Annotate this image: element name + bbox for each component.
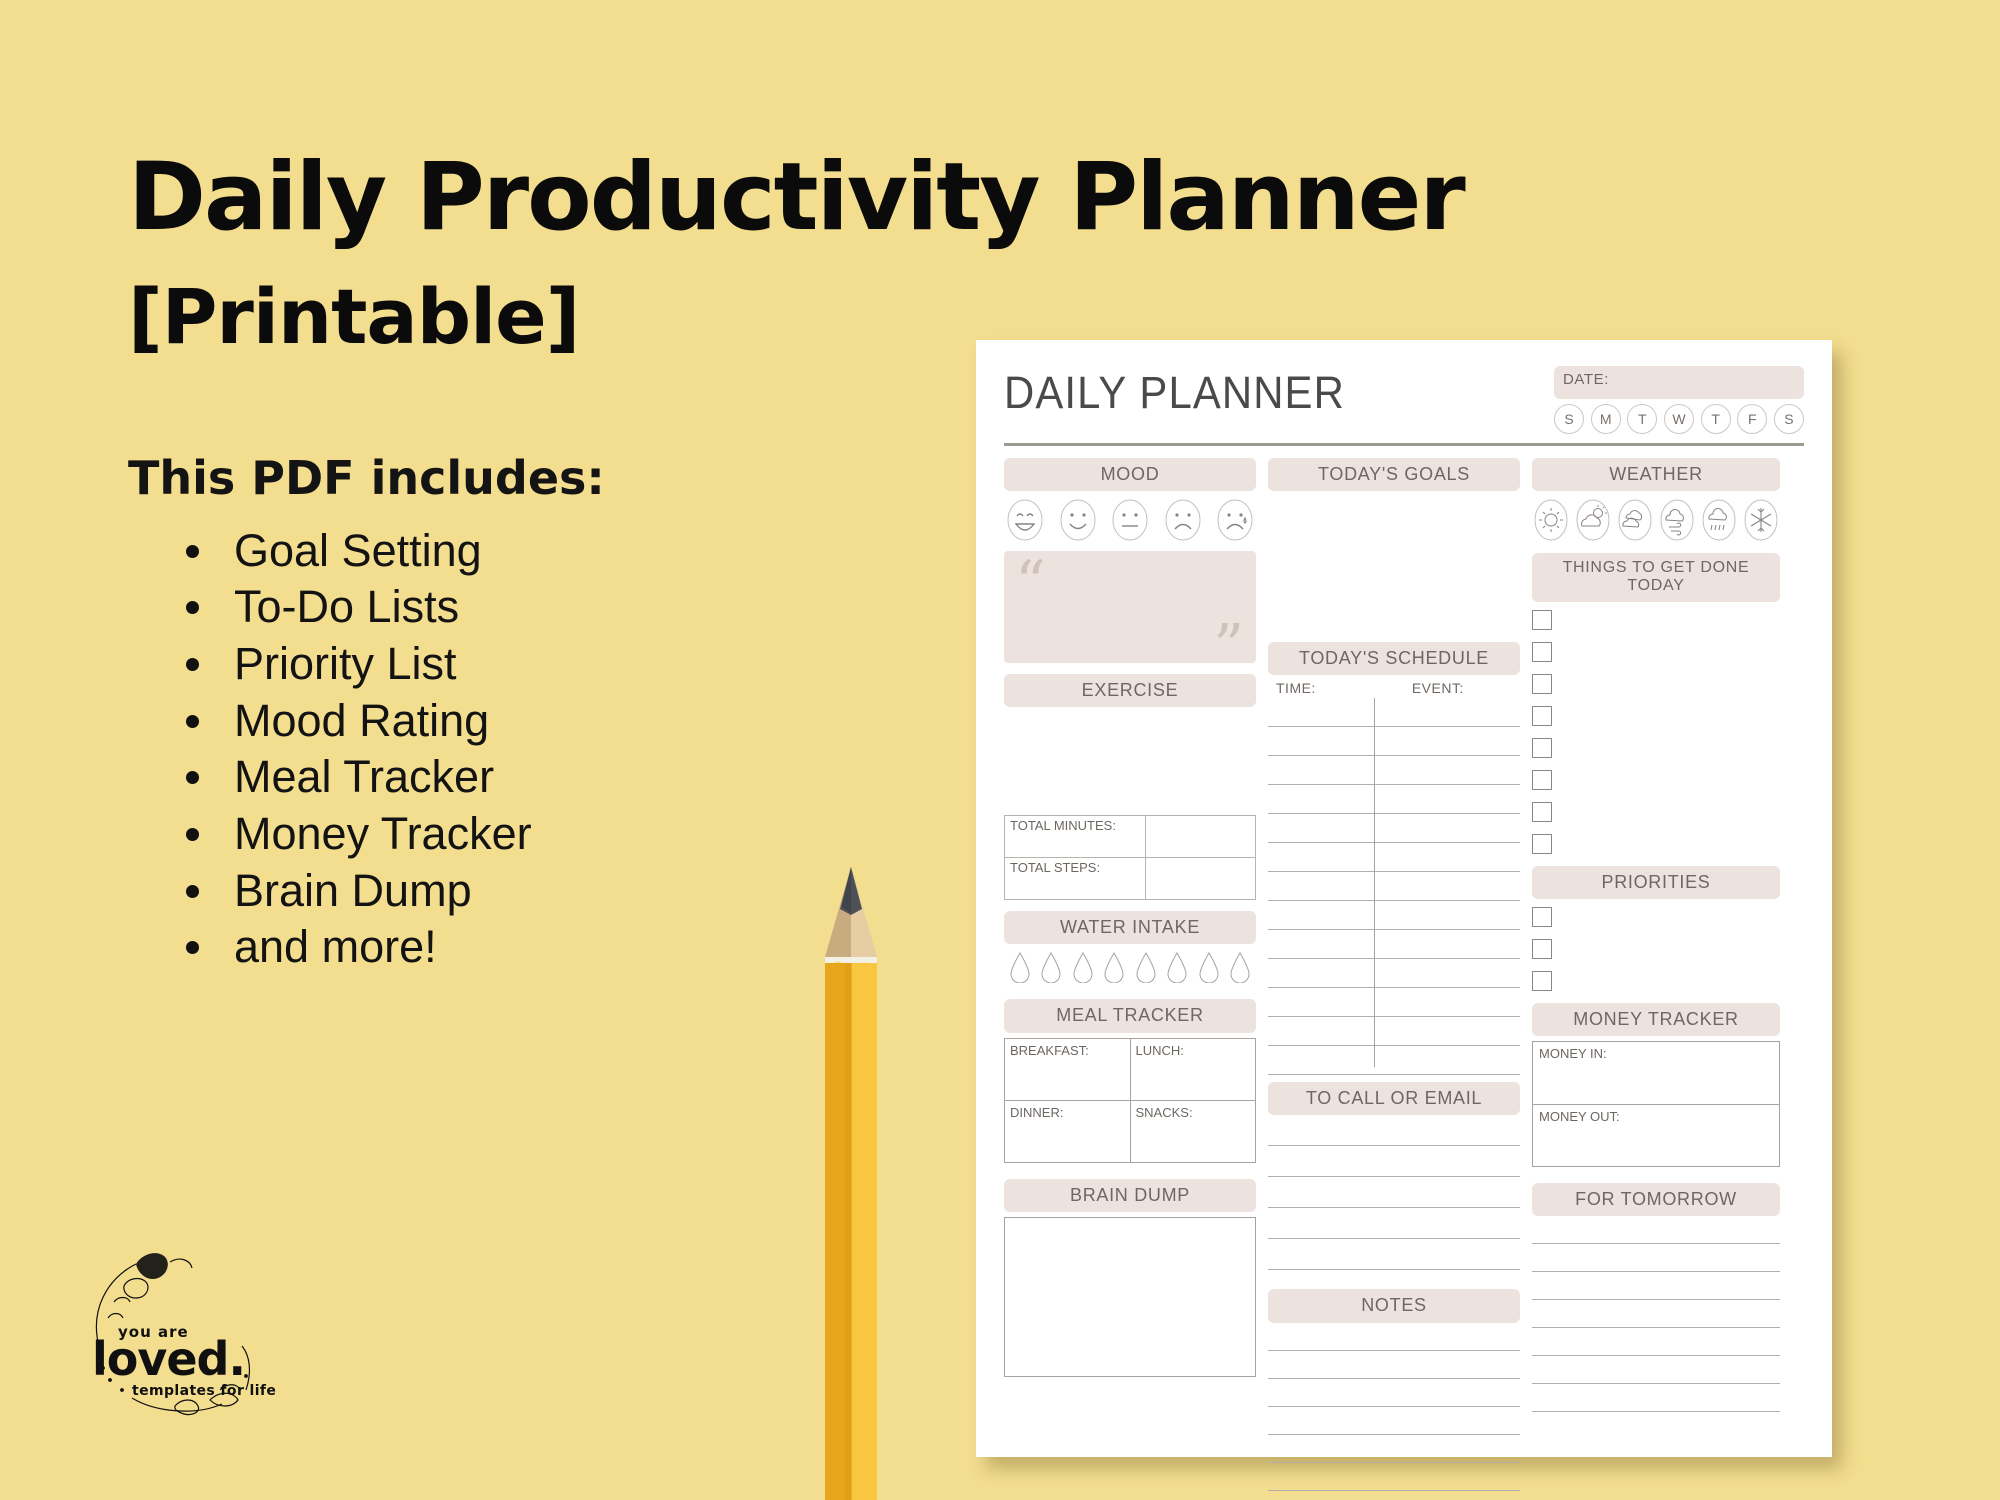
- bullet-icon: [186, 715, 199, 728]
- feature-label: Brain Dump: [234, 865, 472, 916]
- logo-tagline-bottom: templates for life: [132, 1383, 276, 1399]
- meal-tracker-heading: MEAL TRACKER: [1004, 999, 1256, 1032]
- schedule-column-labels: TIME: EVENT:: [1268, 675, 1520, 698]
- feature-item: Priority List: [186, 636, 928, 693]
- todays-schedule-heading: TODAY'S SCHEDULE: [1268, 642, 1520, 675]
- water-drop-icon[interactable]: [1071, 951, 1095, 983]
- feature-label: Meal Tracker: [234, 751, 494, 802]
- priority-checkbox[interactable]: [1532, 907, 1552, 927]
- water-drop-icon[interactable]: [1165, 951, 1189, 983]
- day-of-week-selector[interactable]: SMTWTFS: [1554, 404, 1804, 434]
- schedule-row[interactable]: [1268, 930, 1520, 959]
- column-left: MOOD: [1004, 458, 1256, 1500]
- mood-icon-row[interactable]: [1006, 498, 1254, 542]
- weather-heading: WEATHER: [1532, 458, 1780, 491]
- feature-label: To-Do Lists: [234, 581, 459, 632]
- priorities-heading: PRIORITIES: [1532, 866, 1780, 899]
- for-tomorrow-lines[interactable]: [1532, 1216, 1780, 1412]
- dinner-cell[interactable]: DINNER:: [1005, 1100, 1131, 1162]
- column-right: WEATHER: [1532, 458, 1780, 1500]
- spacer: [1532, 1167, 1780, 1183]
- to-call-or-email-lines[interactable]: [1268, 1115, 1520, 1270]
- brain-dump-box[interactable]: [1004, 1217, 1256, 1377]
- spacer: [1004, 1163, 1256, 1179]
- breakfast-cell[interactable]: BREAKFAST:: [1005, 1038, 1131, 1100]
- schedule-row[interactable]: [1268, 814, 1520, 843]
- header-divider: [1004, 443, 1804, 446]
- day-circle-6[interactable]: S: [1774, 404, 1804, 434]
- brand-logo: you are loved. templates for life: [70, 1240, 290, 1420]
- table-row: BREAKFAST: LUNCH:: [1005, 1038, 1256, 1100]
- mood-heading: MOOD: [1004, 458, 1256, 491]
- feature-list: Goal SettingTo-Do ListsPriority ListMood…: [128, 523, 928, 977]
- spacer: [1004, 900, 1256, 911]
- to-call-line[interactable]: [1268, 1115, 1520, 1146]
- spacer: [1268, 1270, 1520, 1289]
- notes-line[interactable]: [1268, 1407, 1520, 1435]
- schedule-row[interactable]: [1268, 959, 1520, 988]
- schedule-row[interactable]: [1268, 843, 1520, 872]
- bullet-icon: [186, 941, 199, 954]
- planner-sheet: DAILY PLANNER DATE: SMTWTFS MOOD: [976, 340, 1832, 1457]
- lunch-cell[interactable]: LUNCH:: [1130, 1038, 1256, 1100]
- water-drop-icon[interactable]: [1197, 951, 1221, 983]
- bullet-icon: [186, 545, 199, 558]
- exercise-totals-table: TOTAL MINUTES: TOTAL STEPS:: [1004, 815, 1256, 900]
- notes-lines[interactable]: [1268, 1323, 1520, 1500]
- feature-label: and more!: [234, 921, 437, 972]
- todo-checkbox[interactable]: [1532, 610, 1552, 630]
- money-in-field[interactable]: MONEY IN:: [1533, 1042, 1779, 1104]
- page-title: Daily Productivity Planner: [128, 150, 928, 247]
- bullet-icon: [186, 601, 199, 614]
- bullet-icon: [186, 771, 199, 784]
- neutral-face-icon[interactable]: [1111, 498, 1149, 542]
- table-row: TOTAL STEPS:: [1005, 858, 1256, 900]
- priority-checkbox[interactable]: [1532, 939, 1552, 959]
- total-minutes-value[interactable]: [1145, 816, 1255, 858]
- column-middle: TODAY'S GOALS TODAY'S SCHEDULE TIME: EVE…: [1268, 458, 1520, 1500]
- for-tomorrow-line[interactable]: [1532, 1244, 1780, 1272]
- schedule-row[interactable]: [1268, 785, 1520, 814]
- feature-item: Mood Rating: [186, 693, 928, 750]
- bullet-icon: [186, 885, 199, 898]
- snacks-cell[interactable]: SNACKS:: [1130, 1100, 1256, 1162]
- schedule-row[interactable]: [1268, 727, 1520, 756]
- day-circle-2[interactable]: T: [1627, 404, 1657, 434]
- planner-columns: MOOD: [1004, 458, 1804, 1500]
- total-steps-label: TOTAL STEPS:: [1005, 858, 1146, 900]
- todo-checkbox[interactable]: [1532, 674, 1552, 694]
- money-out-field[interactable]: MONEY OUT:: [1533, 1104, 1779, 1166]
- bullet-icon: [186, 658, 199, 671]
- water-drop-icon[interactable]: [1039, 951, 1063, 983]
- day-circle-5[interactable]: F: [1737, 404, 1767, 434]
- date-field[interactable]: DATE:: [1554, 366, 1804, 399]
- for-tomorrow-line[interactable]: [1532, 1384, 1780, 1412]
- promo-subtitle: [Printable]: [128, 277, 928, 357]
- day-circle-1[interactable]: M: [1591, 404, 1621, 434]
- for-tomorrow-line[interactable]: [1532, 1328, 1780, 1356]
- schedule-row[interactable]: [1268, 988, 1520, 1017]
- todo-checkbox[interactable]: [1532, 642, 1552, 662]
- feature-label: Goal Setting: [234, 525, 482, 576]
- sun-icon[interactable]: [1533, 498, 1569, 542]
- todo-checkbox[interactable]: [1532, 770, 1552, 790]
- water-drop-icon[interactable]: [1228, 951, 1252, 983]
- for-tomorrow-line[interactable]: [1532, 1300, 1780, 1328]
- schedule-row[interactable]: [1268, 872, 1520, 901]
- to-call-line[interactable]: [1268, 1239, 1520, 1270]
- notes-heading: NOTES: [1268, 1289, 1520, 1322]
- todo-checkbox[interactable]: [1532, 738, 1552, 758]
- notes-line[interactable]: [1268, 1323, 1520, 1351]
- date-block: DATE: SMTWTFS: [1554, 366, 1804, 434]
- money-tracker-heading: MONEY TRACKER: [1532, 1003, 1780, 1036]
- total-steps-value[interactable]: [1145, 858, 1255, 900]
- snowflake-icon[interactable]: [1743, 498, 1779, 542]
- todo-checkbox[interactable]: [1532, 834, 1552, 854]
- quote-open-icon: “: [1015, 553, 1046, 613]
- notes-line[interactable]: [1268, 1351, 1520, 1379]
- todays-goals-writing-area[interactable]: [1268, 491, 1520, 642]
- sad-face-icon[interactable]: [1164, 498, 1202, 542]
- priority-checkbox[interactable]: [1532, 971, 1552, 991]
- schedule-event-label: EVENT:: [1374, 680, 1520, 696]
- feature-item: Meal Tracker: [186, 749, 928, 806]
- exercise-writing-area[interactable]: [1004, 707, 1256, 811]
- things-to-do-heading: THINGS TO GET DONE TODAY: [1532, 553, 1780, 602]
- feature-item: Goal Setting: [186, 523, 928, 580]
- logo-wordmark: loved.: [92, 1332, 245, 1386]
- for-tomorrow-line[interactable]: [1532, 1272, 1780, 1300]
- day-circle-4[interactable]: T: [1701, 404, 1731, 434]
- schedule-row[interactable]: [1268, 1046, 1520, 1075]
- promo-panel: Daily Productivity Planner [Printable] T…: [128, 150, 928, 976]
- feature-label: Priority List: [234, 638, 457, 689]
- day-circle-0[interactable]: S: [1554, 404, 1584, 434]
- schedule-row[interactable]: [1268, 698, 1520, 727]
- schedule-time-label: TIME:: [1268, 680, 1374, 696]
- money-tracker-box: MONEY IN: MONEY OUT:: [1532, 1041, 1780, 1167]
- feature-item: To-Do Lists: [186, 579, 928, 636]
- notes-line[interactable]: [1268, 1435, 1520, 1463]
- things-to-do-checkboxes[interactable]: [1532, 610, 1780, 854]
- notes-line[interactable]: [1268, 1379, 1520, 1407]
- schedule-row[interactable]: [1268, 756, 1520, 785]
- todo-checkbox[interactable]: [1532, 706, 1552, 726]
- to-call-or-email-heading: TO CALL OR EMAIL: [1268, 1082, 1520, 1115]
- quote-close-icon: ”: [1213, 617, 1244, 677]
- for-tomorrow-line[interactable]: [1532, 1356, 1780, 1384]
- priorities-checkboxes[interactable]: [1532, 907, 1780, 991]
- spacer: [1532, 542, 1780, 553]
- cloudy-icon[interactable]: [1617, 498, 1653, 542]
- spacer: [1268, 1075, 1520, 1082]
- water-drop-icon[interactable]: [1102, 951, 1126, 983]
- table-row: DINNER: SNACKS:: [1005, 1100, 1256, 1162]
- pencil-illustration: [812, 849, 890, 1500]
- schedule-row[interactable]: [1268, 901, 1520, 930]
- for-tomorrow-line[interactable]: [1532, 1216, 1780, 1244]
- smiling-face-icon[interactable]: [1059, 498, 1097, 542]
- to-call-line[interactable]: [1268, 1208, 1520, 1239]
- partly-cloudy-icon[interactable]: [1575, 498, 1611, 542]
- crying-face-icon[interactable]: [1216, 498, 1254, 542]
- windy-icon[interactable]: [1659, 498, 1695, 542]
- rain-icon[interactable]: [1701, 498, 1737, 542]
- brain-dump-heading: BRAIN DUMP: [1004, 1179, 1256, 1212]
- notes-line[interactable]: [1268, 1463, 1520, 1491]
- water-drop-icon[interactable]: [1008, 951, 1032, 983]
- water-drop-row[interactable]: [1008, 951, 1252, 983]
- feature-label: Money Tracker: [234, 808, 532, 859]
- spacer: [1004, 983, 1256, 999]
- for-tomorrow-heading: FOR TOMORROW: [1532, 1183, 1780, 1216]
- total-minutes-label: TOTAL MINUTES:: [1005, 816, 1146, 858]
- schedule-divider: [1374, 698, 1375, 1067]
- quote-box[interactable]: “ ”: [1004, 551, 1256, 663]
- meal-tracker-table: BREAKFAST: LUNCH: DINNER: SNACKS:: [1004, 1038, 1256, 1163]
- todays-goals-heading: TODAY'S GOALS: [1268, 458, 1520, 491]
- planner-title: DAILY PLANNER: [1004, 370, 1345, 415]
- day-circle-3[interactable]: W: [1664, 404, 1694, 434]
- todo-checkbox[interactable]: [1532, 802, 1552, 822]
- laughing-face-icon[interactable]: [1006, 498, 1044, 542]
- logo-mark: you are loved. templates for life: [70, 1240, 290, 1420]
- feature-label: Mood Rating: [234, 695, 489, 746]
- schedule-row[interactable]: [1268, 1017, 1520, 1046]
- notes-line[interactable]: [1268, 1491, 1520, 1500]
- planner-header: DAILY PLANNER DATE: SMTWTFS: [1004, 366, 1804, 434]
- includes-heading: This PDF includes:: [128, 451, 928, 505]
- water-intake-heading: WATER INTAKE: [1004, 911, 1256, 944]
- to-call-line[interactable]: [1268, 1146, 1520, 1177]
- table-row: TOTAL MINUTES:: [1005, 816, 1256, 858]
- schedule-rows[interactable]: [1268, 698, 1520, 1075]
- bullet-icon: [186, 828, 199, 841]
- water-drop-icon[interactable]: [1134, 951, 1158, 983]
- to-call-line[interactable]: [1268, 1177, 1520, 1208]
- weather-icon-row[interactable]: [1533, 498, 1779, 542]
